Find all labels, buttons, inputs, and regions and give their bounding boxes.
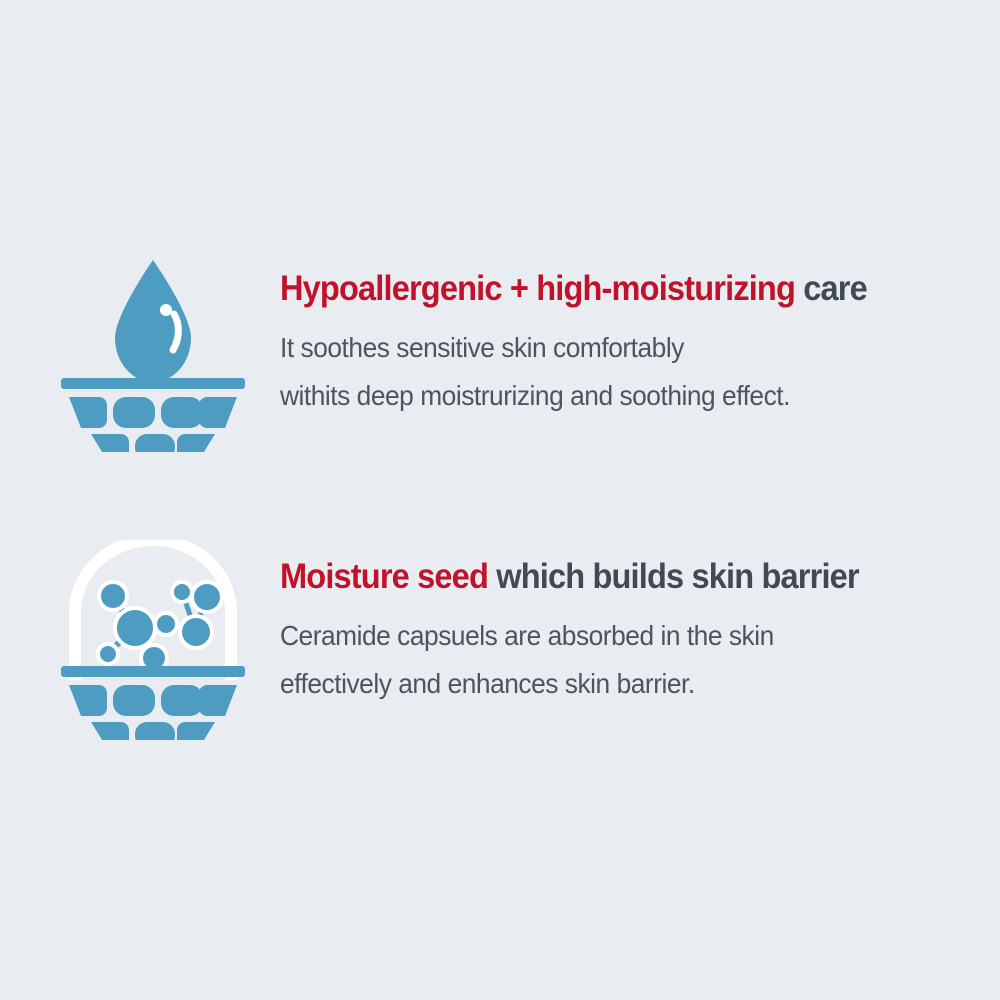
feature-block-moisture-seed: Moisture seed which builds skin barrier … bbox=[0, 540, 1000, 740]
feature-text-wrapper: Moisture seed which builds skin barrier … bbox=[280, 540, 902, 708]
feature-body-line: withits deep moistrurizing and soothing … bbox=[280, 372, 873, 420]
skin-cell-row-lower bbox=[91, 722, 215, 740]
feature-heading-rest: care bbox=[795, 269, 867, 308]
feature-body-line: Ceramide capsuels are absorbed in the sk… bbox=[280, 612, 865, 660]
molecule-right bbox=[172, 582, 222, 648]
skin-surface-bar bbox=[61, 666, 245, 677]
feature-heading-accent: Hypoallergenic + high-moisturizing bbox=[280, 269, 795, 308]
feature-heading-rest: which builds skin barrier bbox=[488, 557, 859, 596]
feature-icon-wrapper bbox=[48, 540, 258, 740]
feature-icon-wrapper bbox=[48, 252, 258, 452]
droplet-shape bbox=[115, 260, 191, 382]
feature-body: Ceramide capsuels are absorbed in the sk… bbox=[280, 612, 865, 708]
feature-heading-accent: Moisture seed bbox=[280, 557, 488, 596]
skin-cell-row-lower bbox=[91, 434, 215, 452]
skin-cell-row-upper bbox=[69, 397, 237, 428]
feature-heading: Moisture seed which builds skin barrier bbox=[280, 558, 859, 596]
feature-body-line: effectively and enhances skin barrier. bbox=[280, 660, 865, 708]
feature-text-wrapper: Hypoallergenic + high-moisturizing care … bbox=[280, 252, 911, 420]
molecule-left bbox=[98, 582, 177, 671]
feature-body-line: It soothes sensitive skin comfortably bbox=[280, 324, 873, 372]
skin-surface-bar bbox=[61, 378, 245, 389]
feature-body: It soothes sensitive skin comfortably wi… bbox=[280, 324, 873, 420]
ceramide-capsule-molecules-over-skin-cells-icon bbox=[53, 540, 253, 740]
feature-block-hypoallergenic: Hypoallergenic + high-moisturizing care … bbox=[0, 252, 1000, 452]
product-feature-infographic: Hypoallergenic + high-moisturizing care … bbox=[0, 0, 1000, 1000]
feature-heading: Hypoallergenic + high-moisturizing care bbox=[280, 270, 867, 308]
skin-cell-row-upper bbox=[69, 685, 237, 716]
water-droplet-over-skin-cells-icon bbox=[53, 252, 253, 452]
